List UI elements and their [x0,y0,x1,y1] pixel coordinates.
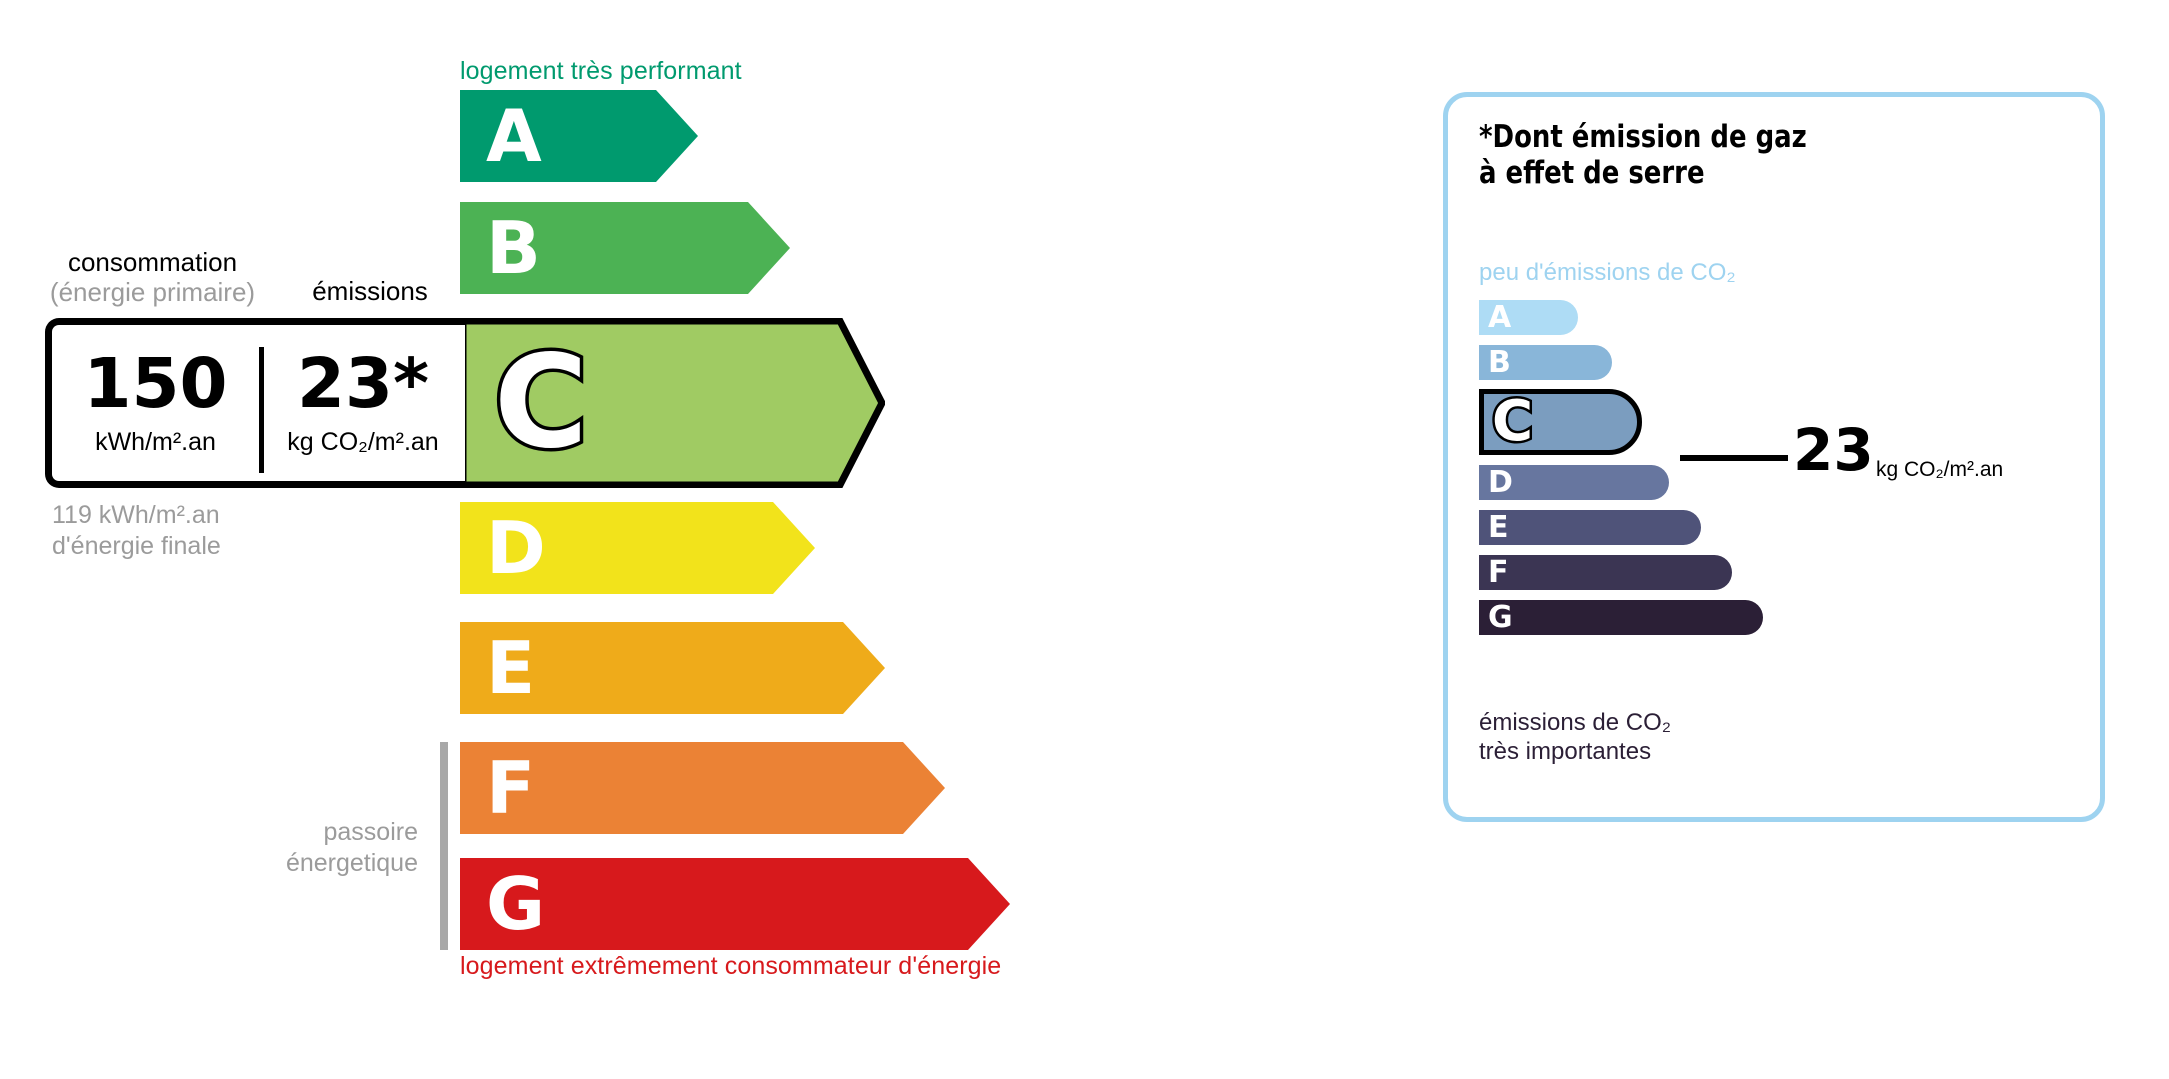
energy-bar-F: F [460,742,945,834]
chart-bottom-caption: logement extrêmement consommateur d'éner… [460,952,1001,981]
co2-bottom-caption: émissions de CO₂ très importantes [1479,708,1671,767]
co2-bottom-line-2: très importantes [1479,737,1671,766]
emissions-header: émissions [280,277,460,307]
co2-bar-B: B [1479,345,1612,380]
energy-bar-label-D: D [486,512,546,584]
consumption-cell: 150 kWh/m².an [52,325,259,481]
consumption-header-sub: (énergie primaire) [45,278,260,308]
co2-bar-label-F: F [1488,558,1509,588]
co2-panel-title: *Dont émission de gaz à effet de serre [1479,120,1807,192]
emissions-cell: 23* kg CO₂/m².an [261,325,465,481]
co2-bar-label-C: C [1492,394,1533,450]
energy-value-box: 150 kWh/m².an 23* kg CO₂/m².an [45,318,465,488]
co2-value: 23 [1793,421,1874,479]
energy-bar-C-highlighted: C [460,318,885,488]
co2-bar-D: D [1479,465,1669,500]
co2-bar-A: A [1479,300,1578,335]
co2-bar-label-D: D [1488,468,1513,498]
co2-bar-label-B: B [1488,348,1511,378]
final-energy-value: 119 kWh/m².an [52,500,221,531]
energy-bar-label-E: E [486,632,535,704]
consumption-value: 150 [83,350,227,419]
consumption-header: consommation (énergie primaire) [45,248,260,308]
passoire-energetique-label: passoire énergetique [200,817,418,878]
passoire-line-1: passoire [200,817,418,848]
final-energy-note: 119 kWh/m².an d'énergie finale [52,500,221,561]
co2-leader-line [1680,455,1788,461]
passoire-energetique-marker [440,742,448,950]
co2-value-unit: kg CO₂/m².an [1876,458,2003,482]
consumption-unit: kWh/m².an [95,428,216,457]
co2-title-line-1: *Dont émission de gaz [1479,120,1807,156]
energy-bar-A: A [460,90,698,182]
energy-bar-D: D [460,502,815,594]
co2-title-line-2: à effet de serre [1479,156,1807,192]
energy-bar-label-C: C [494,339,588,467]
passoire-line-2: énergetique [200,848,418,879]
co2-bar-G: G [1479,600,1763,635]
co2-top-caption: peu d'émissions de CO₂ [1479,259,1736,287]
energy-bar-label-G: G [486,868,545,940]
energy-bar-label-A: A [486,100,542,172]
energy-bar-G: G [460,858,1010,950]
co2-bar-F: F [1479,555,1732,590]
energy-performance-chart: logement très performant A B C 150 kWh/m… [0,0,1400,1079]
co2-bar-label-A: A [1488,303,1511,333]
energy-bar-B: B [460,202,790,294]
energy-bar-label-B: B [486,212,541,284]
co2-bar-E: E [1479,510,1701,545]
co2-bar-label-E: E [1488,513,1509,543]
consumption-header-main: consommation [68,247,237,277]
emissions-value: 23* [297,350,429,419]
energy-bar-label-F: F [486,752,535,824]
final-energy-label: d'énergie finale [52,531,221,562]
co2-bar-label-G: G [1488,603,1513,633]
co2-bar-C-highlighted: C [1479,389,1642,455]
energy-bar-E: E [460,622,885,714]
co2-bottom-line-1: émissions de CO₂ [1479,708,1671,737]
chart-top-caption: logement très performant [460,57,742,86]
emissions-unit: kg CO₂/m².an [287,428,438,457]
